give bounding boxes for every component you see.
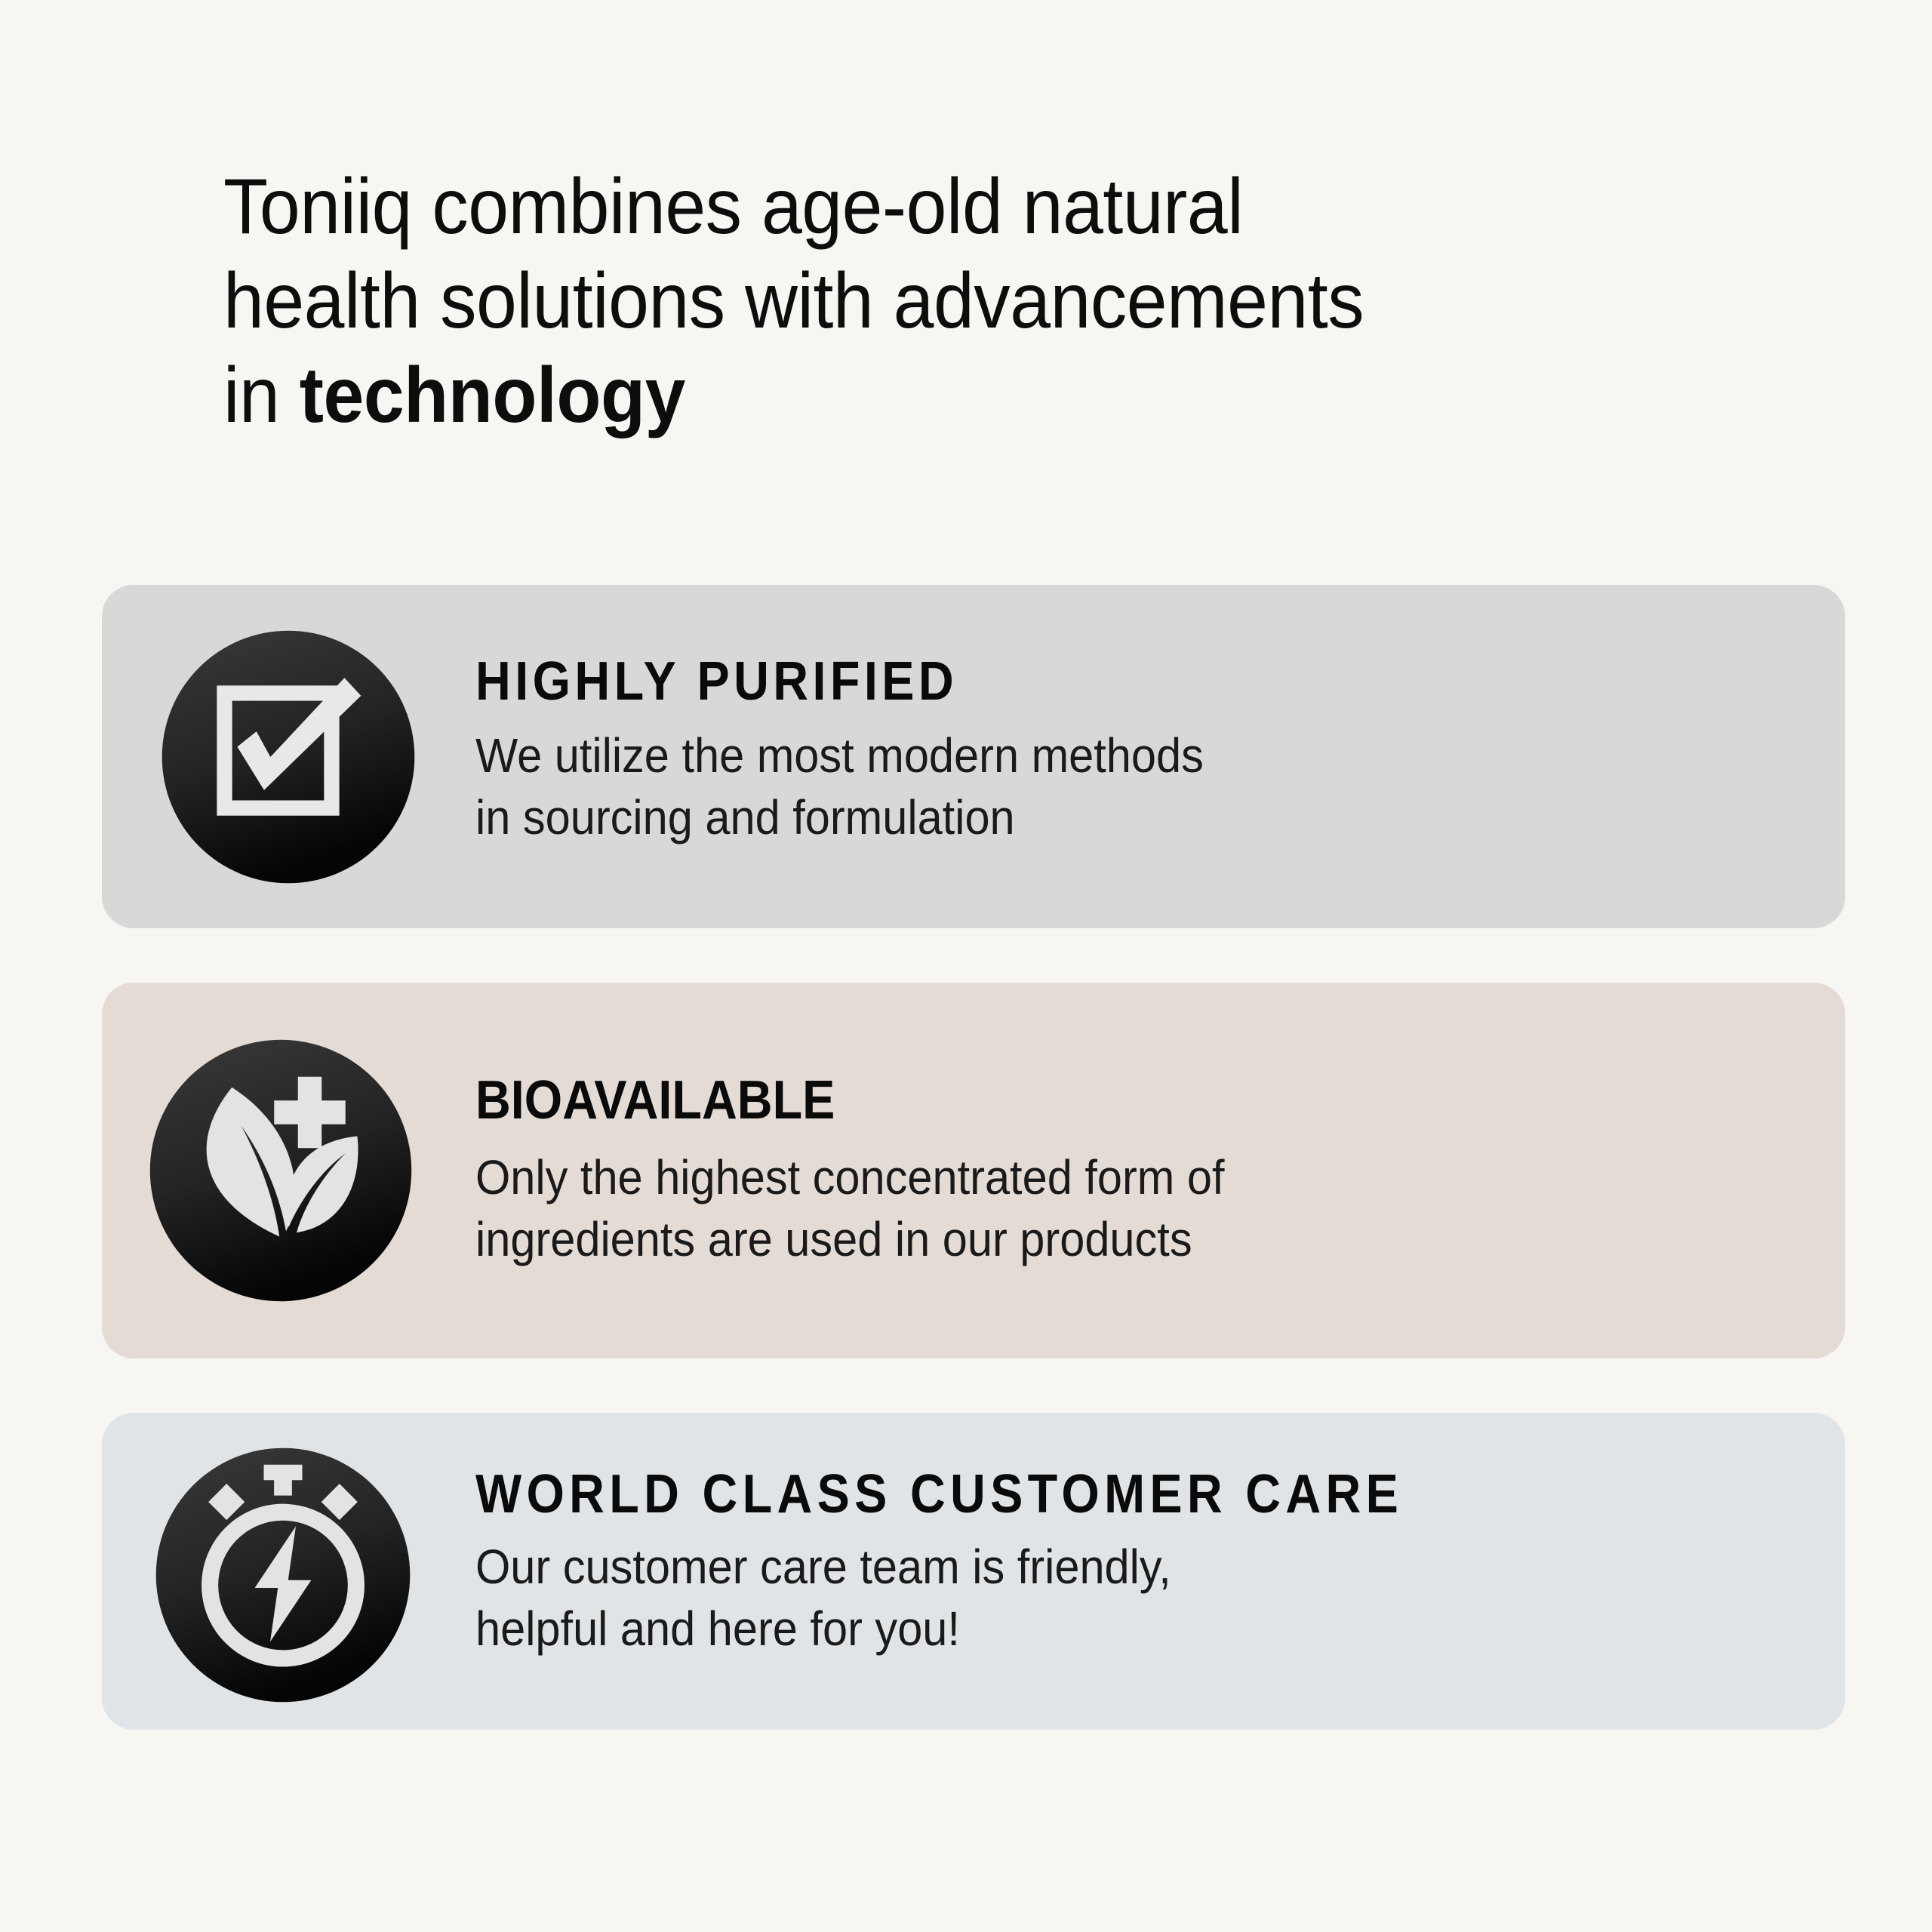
headline-line-3-emphasis: technology xyxy=(300,352,685,439)
checkbox-check-icon xyxy=(161,629,416,884)
feature-card-description: We utilize the most modern methods in so… xyxy=(475,725,1721,849)
stopwatch-bolt-icon xyxy=(155,1447,411,1703)
feature-card-title: WORLD CLASS CUSTOMER CARE xyxy=(475,1467,1681,1521)
feature-card-description: Only the highest concentrated form of in… xyxy=(475,1147,1721,1271)
feature-card-text: WORLD CLASS CUSTOMER CARE Our customer c… xyxy=(475,1467,1815,1660)
headline-line-2: health solutions with advancements xyxy=(223,257,1364,345)
feature-card-title: HIGHLY PURIFIED xyxy=(475,654,1681,709)
feature-card-title: BIOAVAILABLE xyxy=(475,1073,1681,1128)
feature-card-highly-purified: HIGHLY PURIFIED We utilize the most mode… xyxy=(102,585,1845,928)
feature-card-text: HIGHLY PURIFIED We utilize the most mode… xyxy=(475,654,1815,849)
leaf-plus-icon xyxy=(149,1038,413,1303)
feature-card-bioavailable: BIOAVAILABLE Only the highest concentrat… xyxy=(102,983,1845,1358)
headline-line-3-prefix: in xyxy=(223,352,300,439)
feature-card-world-class-customer-care: WORLD CLASS CUSTOMER CARE Our customer c… xyxy=(102,1413,1845,1730)
headline-line-1: Toniiq combines age-old natural xyxy=(223,163,1243,251)
promo-panel: Toniiq combines age-old natural health s… xyxy=(0,0,1932,1932)
feature-card-text: BIOAVAILABLE Only the highest concentrat… xyxy=(475,1073,1815,1271)
page-title: Toniiq combines age-old natural health s… xyxy=(223,160,1557,442)
feature-card-description: Our customer care team is friendly, help… xyxy=(475,1537,1721,1660)
